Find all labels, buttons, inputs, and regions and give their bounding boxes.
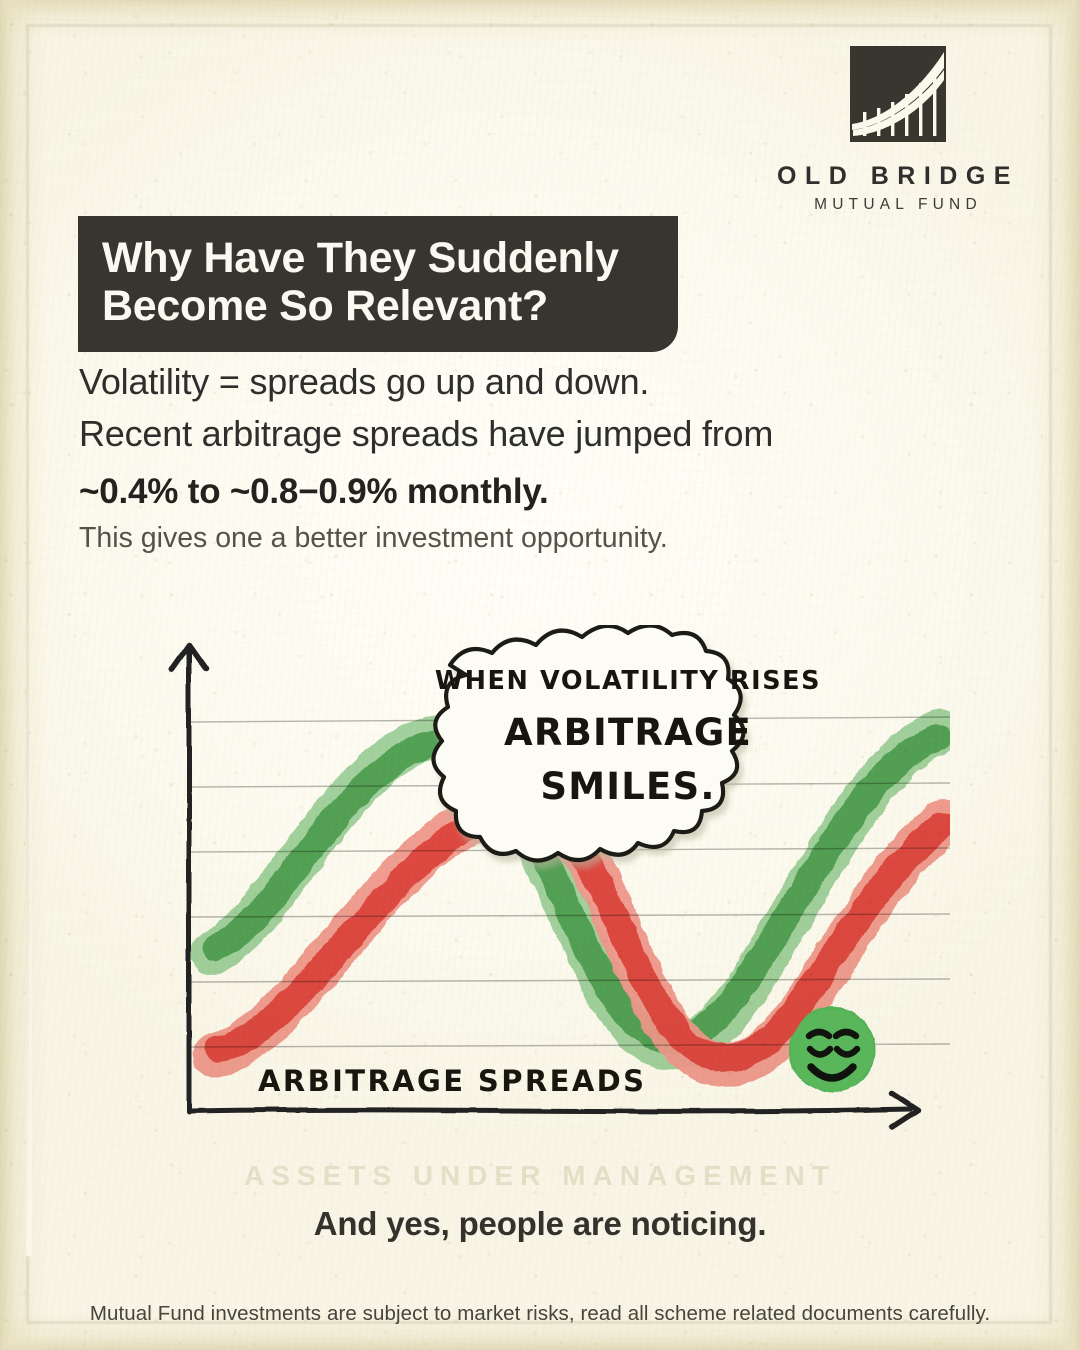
body-line-1: Volatility = spreads go up and down. bbox=[79, 356, 979, 408]
body-copy: Volatility = spreads go up and down. Rec… bbox=[79, 356, 979, 555]
background-watermark: ASSETS UNDER MANAGEMENT bbox=[0, 1160, 1080, 1192]
callout-line-2: ARBITRAGE bbox=[504, 711, 752, 754]
headline-chip: Why Have They Suddenly Become So Relevan… bbox=[78, 216, 678, 352]
body-note: This gives one a better investment oppor… bbox=[79, 522, 979, 555]
closing-line: And yes, people are noticing. bbox=[0, 1205, 1080, 1243]
disclaimer-text: Mutual Fund investments are subject to m… bbox=[0, 1302, 1080, 1326]
brand-logo: OLD BRIDGE MUTUAL FUND bbox=[768, 46, 1028, 214]
green-smiling-face-icon bbox=[789, 1007, 875, 1093]
arbitrage-chart: WHEN VOLATILITY RISES ARBITRAGE SMILES. bbox=[150, 625, 950, 1145]
body-highlight: ~0.4% to ~0.8−0.9% monthly. bbox=[79, 472, 979, 512]
poster-canvas: ASSETS UNDER MANAGEMENT OLD BRIDGE MUTUA… bbox=[0, 0, 1080, 1350]
bridge-chart-logo-icon bbox=[850, 46, 946, 142]
body-line-2: Recent arbitrage spreads have jumped fro… bbox=[79, 408, 979, 460]
chart-x-axis-label: ARBITRAGE SPREADS bbox=[258, 1064, 646, 1098]
brand-name: OLD BRIDGE bbox=[768, 162, 1028, 191]
headline-line-2: Become So Relevant? bbox=[102, 282, 652, 330]
brand-subtitle: MUTUAL FUND bbox=[768, 196, 1028, 214]
headline-line-1: Why Have They Suddenly bbox=[102, 234, 652, 282]
callout-line-3: SMILES. bbox=[540, 765, 715, 808]
callout-line-1: WHEN VOLATILITY RISES bbox=[435, 666, 821, 696]
